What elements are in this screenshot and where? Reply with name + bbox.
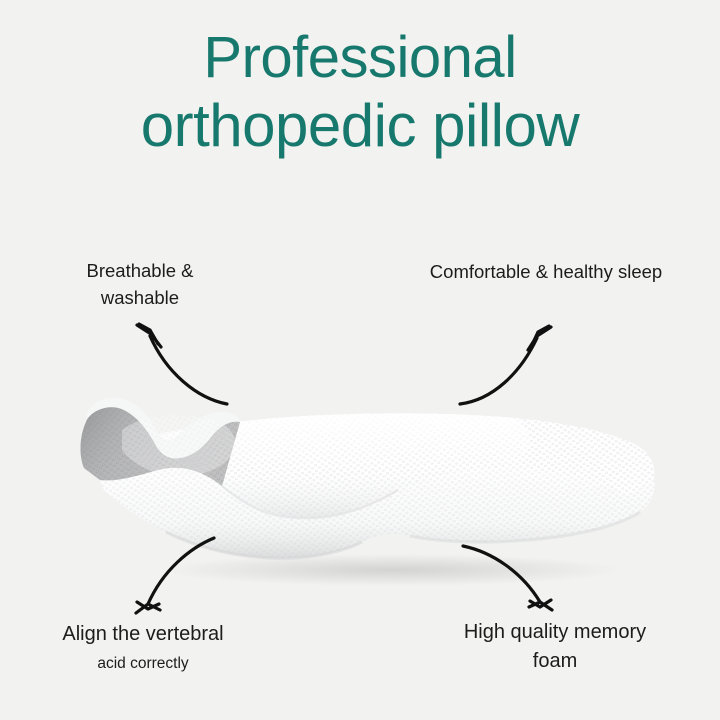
title-line-1: Professional	[0, 24, 720, 91]
feature-label-breathable-line2: washable	[28, 285, 252, 312]
feature-label-align: Align the vertebral acid correctly	[18, 620, 268, 675]
feature-label-foam: High quality memory foam	[416, 618, 694, 676]
page-title: Professional orthopedic pillow	[0, 24, 720, 161]
feature-label-align-line2: acid correctly	[18, 653, 268, 675]
feature-label-comfortable: Comfortable & healthy sleep	[400, 259, 692, 286]
feature-label-breathable-line1: Breathable &	[28, 258, 252, 285]
title-line-2: orthopedic pillow	[0, 91, 720, 161]
product-shadow	[162, 554, 622, 586]
feature-label-comfortable-line1: Comfortable & healthy sleep	[400, 259, 692, 286]
product-image-pillow	[62, 384, 662, 594]
feature-label-foam-line2: foam	[416, 647, 694, 676]
feature-label-breathable: Breathable & washable	[28, 258, 252, 312]
infographic-poster: Professional orthopedic pillow	[0, 0, 720, 720]
feature-label-foam-line1: High quality memory	[416, 618, 694, 647]
feature-label-align-line1: Align the vertebral	[18, 620, 268, 649]
